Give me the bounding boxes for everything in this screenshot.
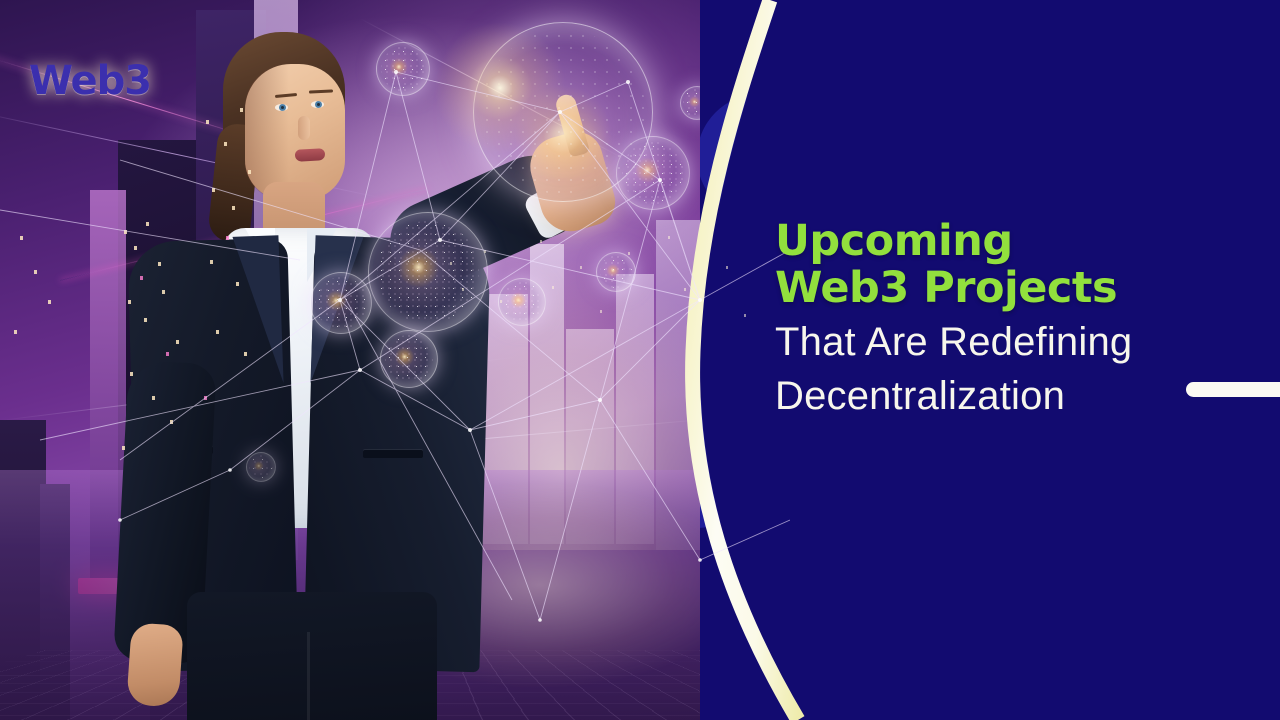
deco-circle-bottom-center <box>788 545 1008 720</box>
headline-accent-dash <box>1186 382 1280 397</box>
network-lines-layer <box>0 0 790 720</box>
deco-circle-right-edge <box>1132 512 1274 654</box>
hero-photo-collage: Web3 <box>0 0 790 720</box>
headline-line-2: Web3 Projects <box>775 265 1275 312</box>
web3-promo-banner: Web3 <box>0 0 1280 720</box>
brand-monogram-icon <box>1224 16 1254 46</box>
headline-line-3: That Are Redefining <box>775 318 1275 366</box>
brand-logo-badge[interactable] <box>1216 8 1262 54</box>
headline-line-1: Upcoming <box>775 218 1275 265</box>
